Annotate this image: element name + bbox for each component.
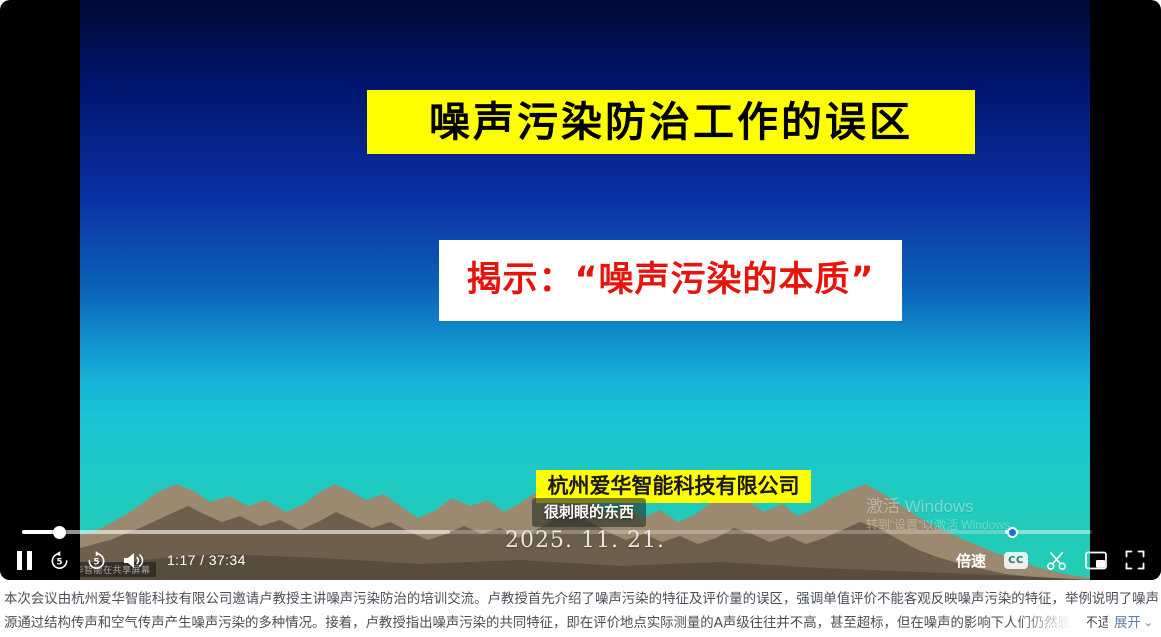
expand-description-button[interactable]: 展开 ⌄: [1108, 611, 1153, 635]
volume-slider[interactable]: [1005, 530, 1090, 534]
volume-button[interactable]: [123, 551, 145, 570]
fullscreen-button[interactable]: [1125, 550, 1145, 570]
picture-in-picture-icon: [1085, 551, 1107, 570]
expand-label: 展开: [1114, 611, 1141, 635]
pause-icon: [16, 551, 33, 570]
volume-handle[interactable]: [1007, 527, 1018, 538]
forward-5-icon: 5: [86, 550, 107, 571]
description-text: 本次会议由杭州爱华智能科技有限公司邀请卢教授主讲噪声污染防治的培训交流。卢教授首…: [0, 584, 1159, 636]
forward-5-button[interactable]: 5: [86, 550, 107, 571]
rewind-5-icon: 5: [49, 550, 70, 571]
video-surface[interactable]: 噪声污染防治工作的误区 揭示：“噪声污染的本质” 杭州爱华智能科技有限公司 20…: [80, 0, 1090, 580]
slide-company-text: 杭州爱华智能科技有限公司: [548, 476, 800, 497]
rewind-5-button[interactable]: 5: [49, 550, 70, 571]
slide-subtitle-box: 揭示：“噪声污染的本质”: [439, 240, 902, 321]
controls-left-group: 5 5 1:17 / 37:34: [16, 540, 246, 580]
scissors-icon: [1046, 550, 1067, 571]
video-player[interactable]: 噪声污染防治工作的误区 揭示：“噪声污染的本质” 杭州爱华智能科技有限公司 20…: [0, 0, 1161, 580]
slide-title-box: 噪声污染防治工作的误区: [367, 90, 975, 154]
slide-title-text: 噪声污染防治工作的误区: [429, 102, 913, 143]
slide-subtitle-text: 揭示：“噪声污染的本质”: [466, 263, 874, 298]
progress-handle[interactable]: [53, 526, 66, 539]
svg-text:5: 5: [57, 557, 63, 567]
fullscreen-icon: [1125, 550, 1145, 570]
picture-in-picture-button[interactable]: [1085, 551, 1107, 570]
playback-speed-button[interactable]: 倍速: [956, 550, 986, 571]
time-display: 1:17 / 37:34: [167, 552, 246, 568]
pause-button[interactable]: [16, 551, 33, 570]
danmaku-comment: 很刺眼的东西: [532, 498, 646, 527]
chevron-down-icon: ⌄: [1144, 618, 1153, 629]
video-description: 本次会议由杭州爱华智能科技有限公司邀请卢教授主讲噪声污染防治的培训交流。卢教授首…: [0, 584, 1161, 637]
description-fade: [1017, 611, 1087, 635]
controls-right-group: 倍速 CC: [956, 540, 1145, 580]
volume-icon: [123, 551, 145, 570]
clip-button[interactable]: [1046, 550, 1067, 571]
captions-button[interactable]: CC: [1004, 552, 1028, 569]
svg-text:5: 5: [94, 557, 100, 567]
